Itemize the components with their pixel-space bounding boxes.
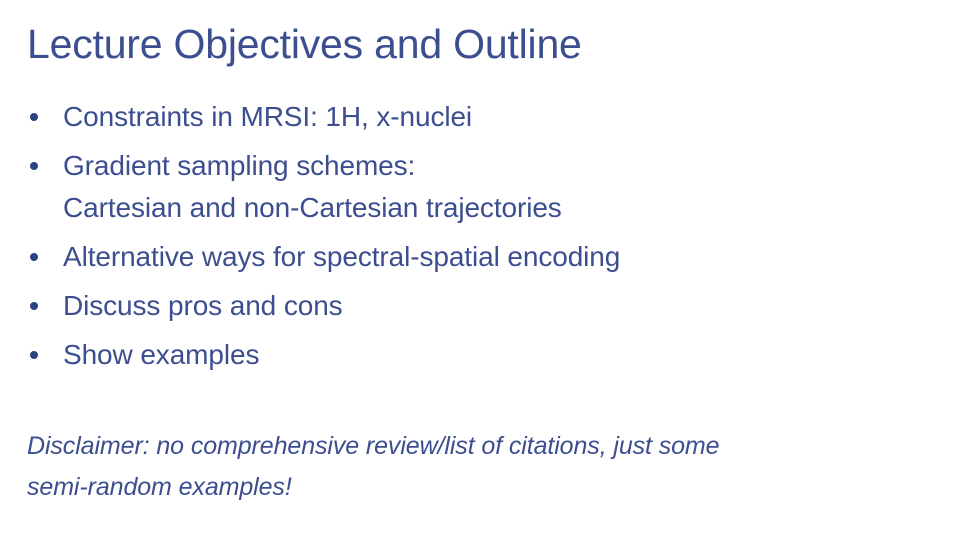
- list-item: Discuss pros and cons: [27, 285, 927, 327]
- bullet-dot-icon: [30, 253, 38, 261]
- slide-canvas: Lecture Objectives and Outline Constrain…: [0, 0, 960, 540]
- bullet-dot-icon: [30, 351, 38, 359]
- list-item: Show examples: [27, 334, 927, 376]
- list-item-line: Show examples: [63, 334, 927, 376]
- list-item-line: Alternative ways for spectral-spatial en…: [63, 236, 927, 278]
- disclaimer-line: Disclaimer: no comprehensive review/list…: [27, 426, 927, 467]
- bullet-dot-icon: [30, 162, 38, 170]
- list-item-line: Discuss pros and cons: [63, 285, 927, 327]
- bullet-dot-icon: [30, 113, 38, 121]
- list-item-line: Cartesian and non-Cartesian trajectories: [63, 187, 927, 229]
- bullet-dot-icon: [30, 302, 38, 310]
- objectives-list: Constraints in MRSI: 1H, x-nuclei Gradie…: [27, 96, 927, 383]
- list-item: Constraints in MRSI: 1H, x-nuclei: [27, 96, 927, 138]
- page-title: Lecture Objectives and Outline: [27, 18, 907, 70]
- list-item: Gradient sampling schemes: Cartesian and…: [27, 145, 927, 229]
- list-item: Alternative ways for spectral-spatial en…: [27, 236, 927, 278]
- list-item-line: Constraints in MRSI: 1H, x-nuclei: [63, 96, 927, 138]
- list-item-line: Gradient sampling schemes:: [63, 145, 927, 187]
- disclaimer-line: semi-random examples!: [27, 467, 927, 508]
- disclaimer-text: Disclaimer: no comprehensive review/list…: [27, 426, 927, 508]
